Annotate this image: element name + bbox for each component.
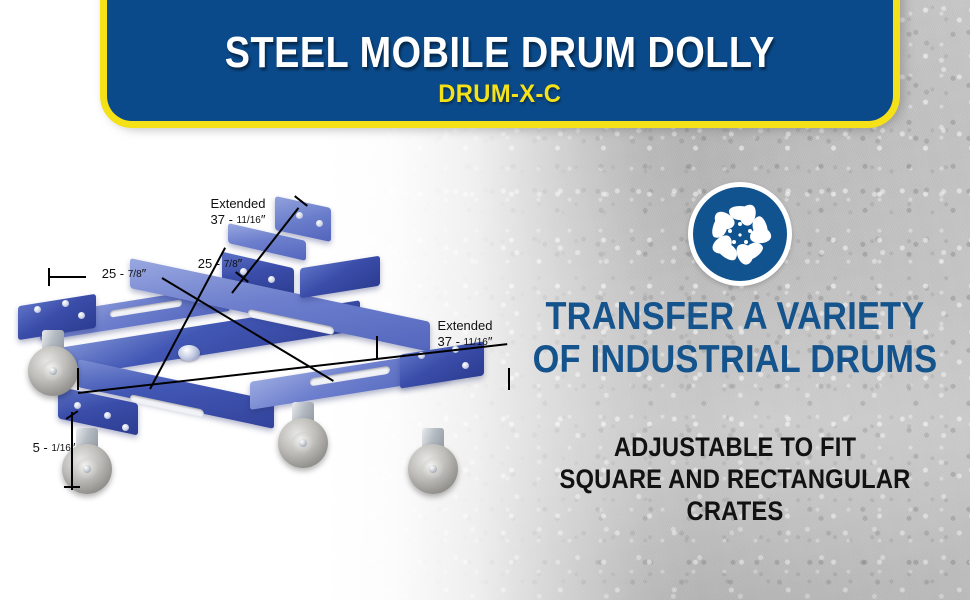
dolly-bolt [74,402,81,409]
dolly-center-pivot [178,345,200,361]
dolly-bolt [316,220,323,227]
wheel-rim-badge [688,182,792,286]
dolly-bolt [296,212,303,219]
feature-subline-line-1: ADJUSTABLE TO FIT [528,432,942,464]
dimension-fraction: 7/8 [224,259,238,270]
dimension-label-overall-height: 5 - 1/16″ [18,440,90,456]
dimension-tick [508,368,510,390]
dolly-bolt [62,300,69,307]
dolly-bolt [122,424,129,431]
dimension-fraction: 7/8 [128,269,142,280]
product-banner: STEEL MOBILE DRUM DOLLY DRUM-X-C [0,0,970,600]
dimension-tick [376,336,378,358]
header-plaque: STEEL MOBILE DRUM DOLLY DRUM-X-C [100,0,900,128]
dimension-unit: ″ [238,256,243,271]
dolly-foot-back-right [300,256,380,299]
dimension-unit: ″ [142,266,147,281]
dimension-leader-line [71,412,73,490]
dolly-bolt [34,306,41,313]
dimension-label-collapsed-width: 25 - 7/8″ [86,266,162,282]
dolly-bolt [268,276,275,283]
dimension-tick [48,268,50,286]
dimension-fraction: 1/16 [51,443,70,454]
dolly-bolt [78,312,85,319]
caster-axle [83,465,91,473]
dimension-prefix: Extended [438,318,493,333]
caster-axle [299,439,307,447]
wheel-rim-icon [688,182,792,286]
feature-headline-line-2: OF INDUSTRIAL DRUMS [528,339,942,382]
page-title: STEEL MOBILE DRUM DOLLY [225,31,775,76]
dolly-bolt [462,362,469,369]
dimension-tick-arrow-bottom [64,486,80,488]
dimension-fraction: 11/16 [237,215,261,226]
product-sku: DRUM-X-C [438,80,561,109]
dimension-leader-line [50,276,86,278]
dimension-value: 5 - [33,440,52,455]
dimension-tick [77,368,79,390]
dolly-bolt [104,412,111,419]
feature-subline-line-2: SQUARE AND RECTANGULAR CRATES [528,464,942,528]
dimension-label-extended-depth: Extended 37 - 11/16″ [190,196,286,229]
feature-headline-line-1: TRANSFER A VARIETY [528,296,942,339]
dimension-unit: ″ [261,212,266,227]
feature-subline: ADJUSTABLE TO FIT SQUARE AND RECTANGULAR… [528,432,942,528]
caster-axle [49,367,57,375]
dimension-value: 37 - [438,334,464,349]
dimension-value: 37 - [211,212,237,227]
dimension-label-extended-width: Extended 37 - 11/16″ [400,318,530,351]
dimension-value: 25 - [102,266,128,281]
caster-axle [429,465,437,473]
dimension-prefix: Extended [211,196,266,211]
feature-headline: TRANSFER A VARIETY OF INDUSTRIAL DRUMS [528,296,942,382]
